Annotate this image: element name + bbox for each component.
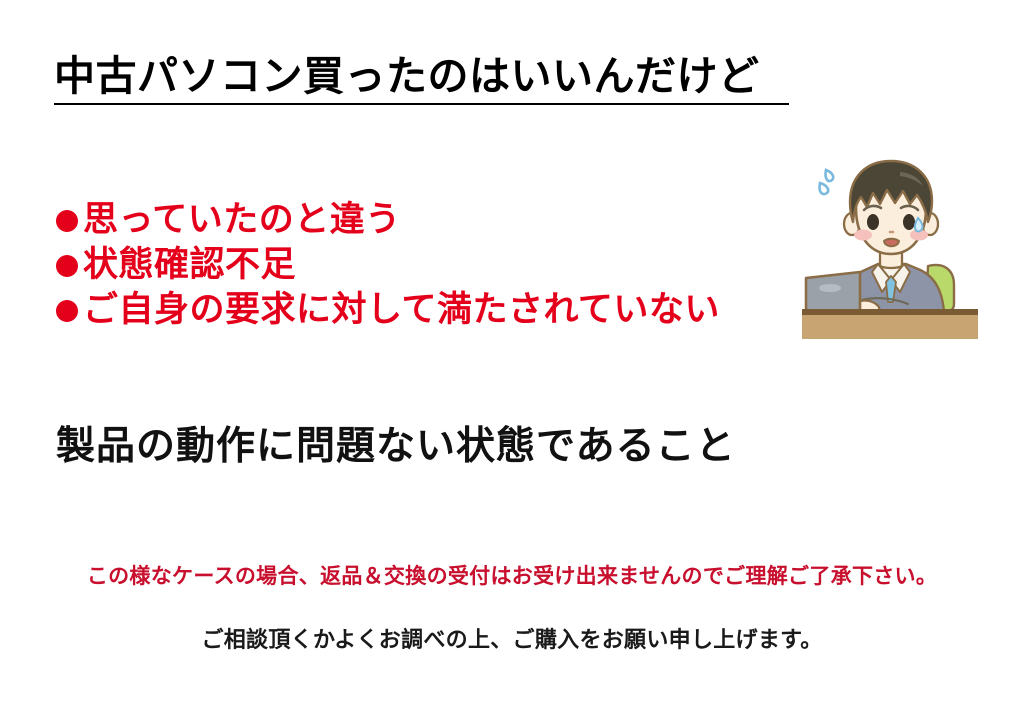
bullet-dot-icon — [56, 300, 78, 322]
list-item: 状態確認不足 — [56, 243, 720, 288]
policy-note-black: ご相談頂くかよくお調べの上、ご購入をお願い申し上げます。 — [0, 622, 1024, 654]
bullet-dot-icon — [56, 255, 78, 277]
bullet-label: 状態確認不足 — [83, 248, 296, 283]
sweat-drop-icon — [820, 170, 834, 194]
title-underline — [54, 103, 789, 105]
list-item: ご自身の要求に対して満たされていない — [56, 288, 720, 333]
bullet-dot-icon — [56, 210, 78, 232]
bullet-label: ご自身の要求に対して満たされていない — [83, 293, 720, 328]
bullet-label: 思っていたのと違う — [83, 203, 401, 238]
list-item: 思っていたのと違う — [56, 198, 720, 243]
mouth — [884, 239, 899, 247]
eye-left — [867, 214, 879, 230]
page-title: 中古パソコン買ったのはいいんだけど — [54, 52, 760, 100]
statement-heading: 製品の動作に問題ない状態であること — [56, 415, 736, 471]
cheek-left — [854, 230, 872, 241]
slide-canvas: 中古パソコン買ったのはいいんだけど 思っていたのと違う 状態確認不足 ご自身の要… — [0, 0, 1024, 709]
policy-note-red: この様なケースの場合、返品＆交換の受付はお受け出来ませんのでご理解ご了承下さい。 — [0, 560, 1024, 590]
eye-right — [903, 214, 915, 230]
issue-bullet-list: 思っていたのと違う 状態確認不足 ご自身の要求に対して満たされていない — [56, 198, 720, 333]
desk — [802, 309, 978, 339]
worried-businessman-illustration — [802, 152, 1012, 347]
